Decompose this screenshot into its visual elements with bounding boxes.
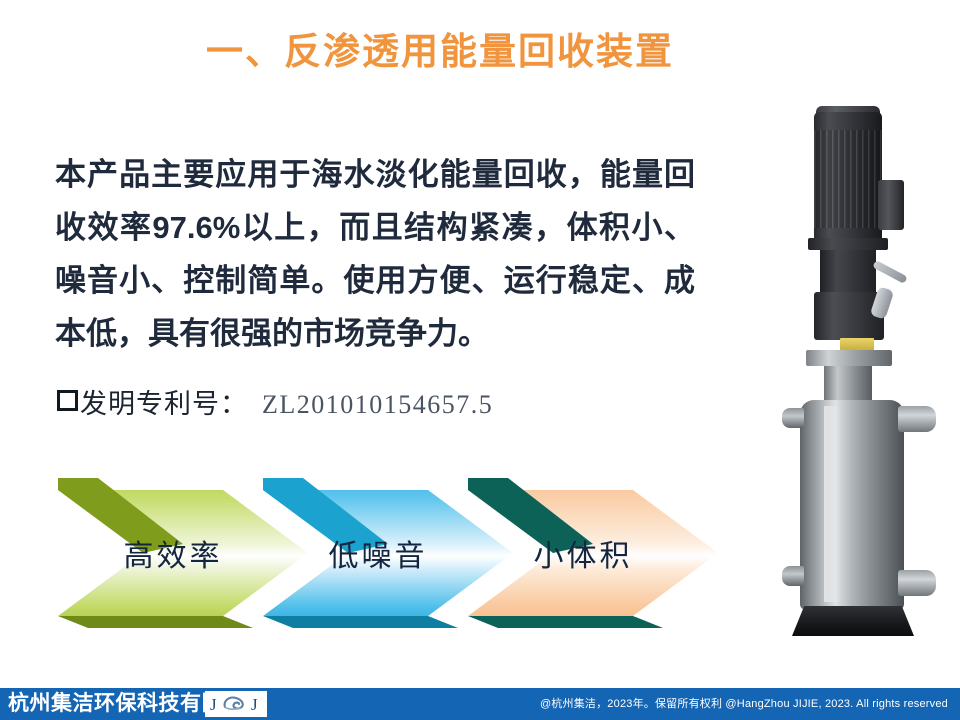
port-top-right (898, 406, 936, 432)
feature-chevron-row: 高效率 低噪音 小体积 (58, 478, 718, 628)
motor-flange (808, 238, 888, 250)
port-top-left (782, 408, 804, 428)
page-title: 一、反渗透用能量回收装置 (0, 30, 880, 74)
company-logo: J J (205, 691, 267, 717)
chevron-label: 低噪音 (329, 531, 428, 575)
port-bottom-left (782, 566, 804, 586)
patent-line: 发明专利号： ZL201010154657.5 (57, 382, 493, 421)
vessel-highlight (824, 406, 840, 602)
patent-number: ZL201010154657.5 (262, 390, 493, 420)
square-bullet-icon (57, 390, 78, 411)
svg-text:J: J (251, 695, 258, 714)
footer-bar: 杭州集洁环保科技有限公司 J J @杭州集洁，2023年。保留所有权利 @Han… (0, 688, 960, 720)
coupling-housing (820, 250, 876, 292)
patent-label: 发明专利号： (80, 382, 248, 421)
valve-lever (872, 260, 908, 284)
chevron-label: 高效率 (124, 531, 223, 575)
vessel-body (800, 400, 904, 610)
footer-copyright: @杭州集洁，2023年。保留所有权利 @HangZhou JIJIE, 2023… (540, 688, 948, 720)
upper-flange (806, 350, 892, 366)
motor-cooling-fins (814, 130, 882, 228)
chevron-small-volume: 小体积 (468, 478, 718, 628)
terminal-box (878, 180, 904, 230)
slide-canvas: 一、反渗透用能量回收装置 本产品主要应用于海水淡化能量回收，能量回收效率97.6… (0, 0, 960, 720)
port-bottom-right (898, 570, 936, 596)
body-paragraph: 本产品主要应用于海水淡化能量回收，能量回收效率97.6%以上，而且结构紧凑，体积… (55, 148, 695, 360)
product-photo (762, 100, 958, 660)
base-plate (792, 606, 914, 636)
svg-text:J: J (210, 695, 217, 714)
jj-swirl-logo-icon: J J (207, 693, 265, 715)
chevron-label: 小体积 (534, 531, 633, 575)
